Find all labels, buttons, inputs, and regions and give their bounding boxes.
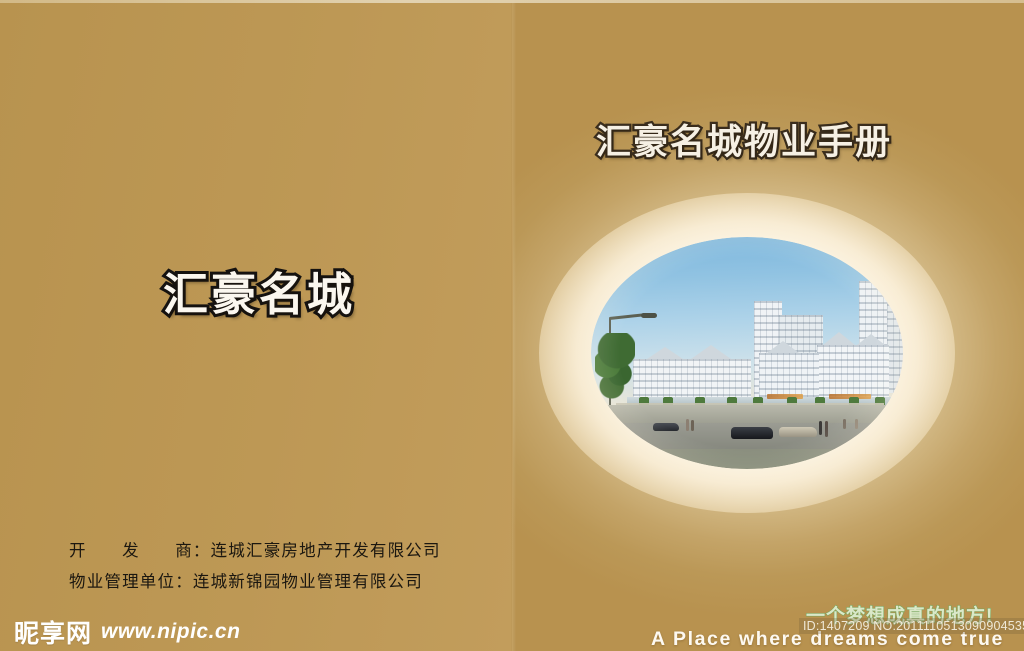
page-title: 汇豪名城物业手册: [596, 114, 892, 165]
tower-right-wing: [887, 297, 903, 393]
credits-block: 开 发 商：连城汇豪房地产开发有限公司 物业管理单位：连城新锦园物业管理有限公司: [69, 536, 441, 598]
book-cover: 汇豪名城物业手册 汇豪名城 开 发 商：连城汇豪房地产开发有限公司 物业管理单位…: [0, 0, 1024, 651]
spine-seam: [511, 0, 516, 651]
car-far: [653, 423, 679, 431]
credit-value-developer: 连城汇豪房地产开发有限公司: [211, 542, 441, 560]
cover-photo-oval: [591, 237, 903, 469]
midrise-center-roof: [767, 341, 799, 353]
residential-complex-rendering: [591, 237, 903, 469]
car-dark: [731, 427, 773, 439]
midrise-right-roof-2: [857, 334, 885, 345]
pedestrian: [825, 421, 828, 437]
apartment-block-left-roof-a: [647, 347, 683, 359]
pedestrian: [855, 419, 858, 429]
apartment-block-left-roof-b: [691, 345, 731, 359]
pedestrian: [686, 419, 689, 431]
project-name-title: 汇豪名城: [163, 258, 355, 323]
credit-line-developer: 开 发 商：连城汇豪房地产开发有限公司: [69, 536, 441, 567]
pedestrian: [691, 420, 694, 431]
pedestrian: [819, 421, 822, 435]
watermark-stock-site: 昵享网 www.nipic.cn: [14, 614, 240, 650]
watermark-id-line: ID:1407209 NO:20111105130909045350: [799, 618, 1024, 634]
credit-value-property-management: 连城新锦园物业管理有限公司: [193, 573, 423, 591]
street-lamp-head: [641, 313, 657, 318]
nipic-logo: 昵享网: [14, 614, 92, 650]
nipic-url: www.nipic.cn: [101, 620, 240, 644]
top-edge-rule: [0, 0, 1024, 3]
credit-label-developer: 开 发 商：: [69, 542, 211, 560]
car-light: [779, 427, 817, 437]
car-far-right: [867, 428, 891, 435]
credit-line-property-management: 物业管理单位：连城新锦园物业管理有限公司: [69, 567, 441, 598]
credit-label-property-management: 物业管理单位：: [69, 573, 193, 591]
midrise-right-roof: [823, 332, 855, 345]
pedestrian: [843, 419, 846, 429]
shop-signage-a: [767, 394, 803, 399]
foreground-tree: [595, 333, 635, 407]
